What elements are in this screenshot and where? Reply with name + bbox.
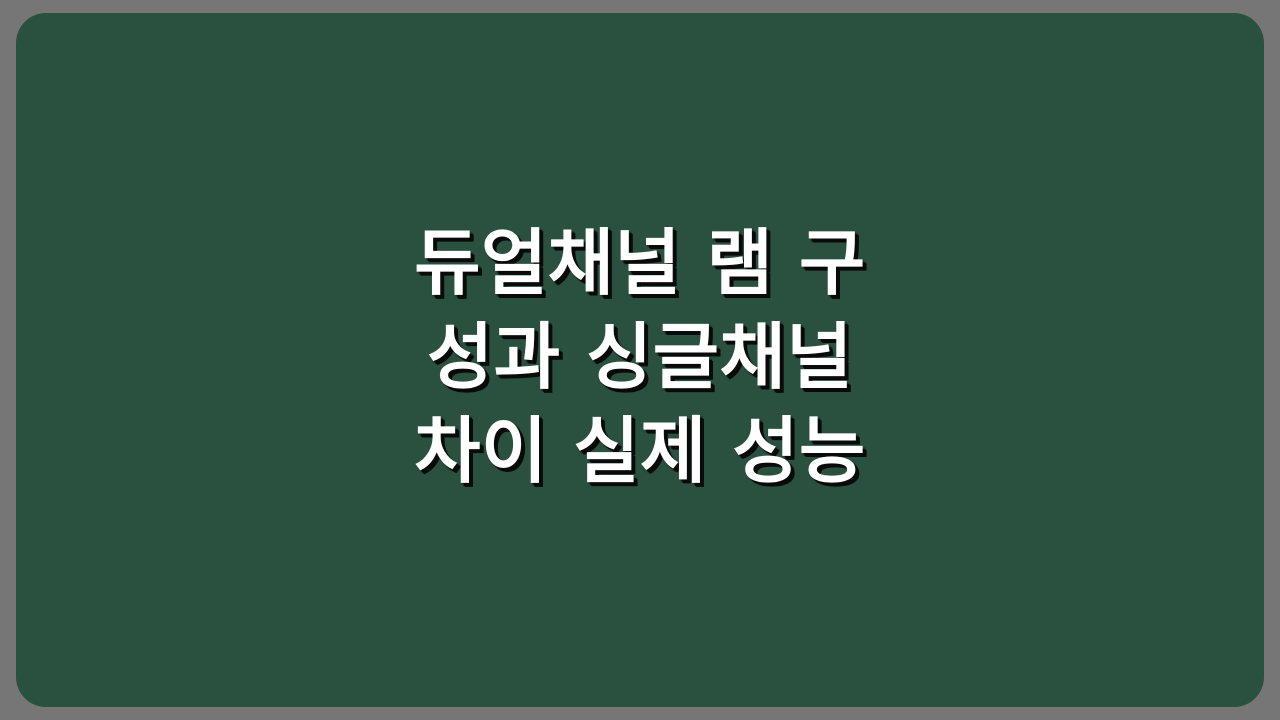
- title-block: 듀얼채널 램 구 성과 싱글채널 차이 실제 성능: [360, 216, 920, 504]
- title-line-3: 차이 실제 성능: [360, 404, 920, 498]
- title-line-2: 성과 싱글채널: [360, 310, 920, 404]
- title-line-1: 듀얼채널 램 구: [360, 216, 920, 310]
- outer-frame: 듀얼채널 램 구 성과 싱글채널 차이 실제 성능: [0, 0, 1280, 720]
- chalkboard-panel: 듀얼채널 램 구 성과 싱글채널 차이 실제 성능: [16, 13, 1264, 707]
